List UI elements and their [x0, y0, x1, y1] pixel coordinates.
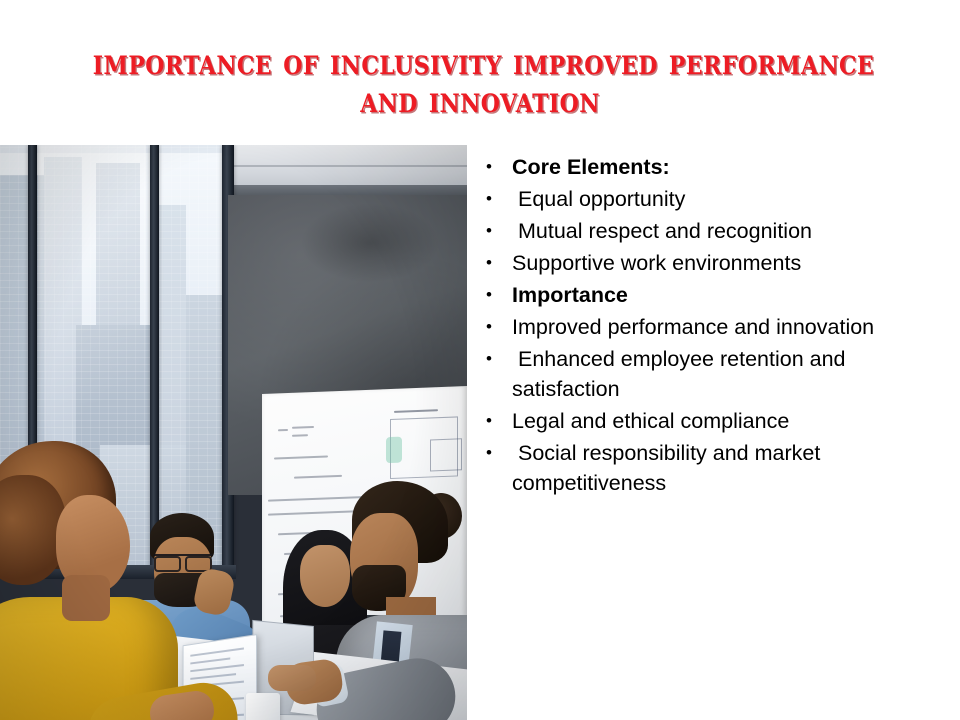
bullet-point-icon: • — [482, 438, 512, 468]
list-item: •Supportive work environments — [482, 248, 952, 278]
list-item: • Equal opportunity — [482, 184, 952, 214]
person-yellow-blouse-neck — [62, 575, 110, 621]
concrete-wall-shadow — [300, 203, 440, 283]
bullet-list: •Core Elements:• Equal opportunity• Mutu… — [482, 152, 952, 500]
list-item-label: Social responsibility and market competi… — [512, 438, 952, 498]
list-item-label: Core Elements: — [512, 152, 952, 182]
list-item-label: Legal and ethical compliance — [512, 406, 952, 436]
bullet-point-icon: • — [482, 216, 512, 246]
page-title-line-1: Importance of Inclusivity Improved Perfo… — [93, 44, 867, 82]
window-mullion — [150, 145, 159, 575]
ceiling-seam — [210, 165, 467, 167]
list-item: • Enhanced employee retention and satisf… — [482, 344, 952, 404]
list-item-label: Equal opportunity — [512, 184, 952, 214]
bullet-point-icon: • — [482, 344, 512, 374]
bullet-point-icon: • — [482, 312, 512, 342]
list-item-label: Supportive work environments — [512, 248, 952, 278]
bullet-point-icon: • — [482, 184, 512, 214]
list-item: •Core Elements: — [482, 152, 952, 182]
list-item: •Importance — [482, 280, 952, 310]
person-hijab-face — [300, 545, 350, 607]
bullet-point-icon: • — [482, 248, 512, 278]
list-item-label: Importance — [512, 280, 952, 310]
list-item-label: Enhanced employee retention and satisfac… — [512, 344, 952, 404]
list-item: • Social responsibility and market compe… — [482, 438, 952, 498]
coffee-mug — [246, 693, 280, 720]
page-title-line-2: and Innovation — [93, 82, 867, 120]
list-item: •Legal and ethical compliance — [482, 406, 952, 436]
eyeglasses — [154, 554, 212, 568]
page-title: Importance of Inclusivity Improved Perfo… — [40, 44, 920, 120]
list-item: • Mutual respect and recognition — [482, 216, 952, 246]
bullet-point-icon: • — [482, 152, 512, 182]
bullet-point-icon: • — [482, 280, 512, 310]
list-item: •Improved performance and innovation — [482, 312, 952, 342]
person-hijab-hand — [268, 665, 316, 691]
list-item-label: Improved performance and innovation — [512, 312, 952, 342]
bullet-point-icon: • — [482, 406, 512, 436]
list-item-label: Mutual respect and recognition — [512, 216, 952, 246]
slide-canvas: Importance of Inclusivity Improved Perfo… — [0, 0, 960, 720]
meeting-room-photo: Meta AI — [0, 145, 467, 720]
